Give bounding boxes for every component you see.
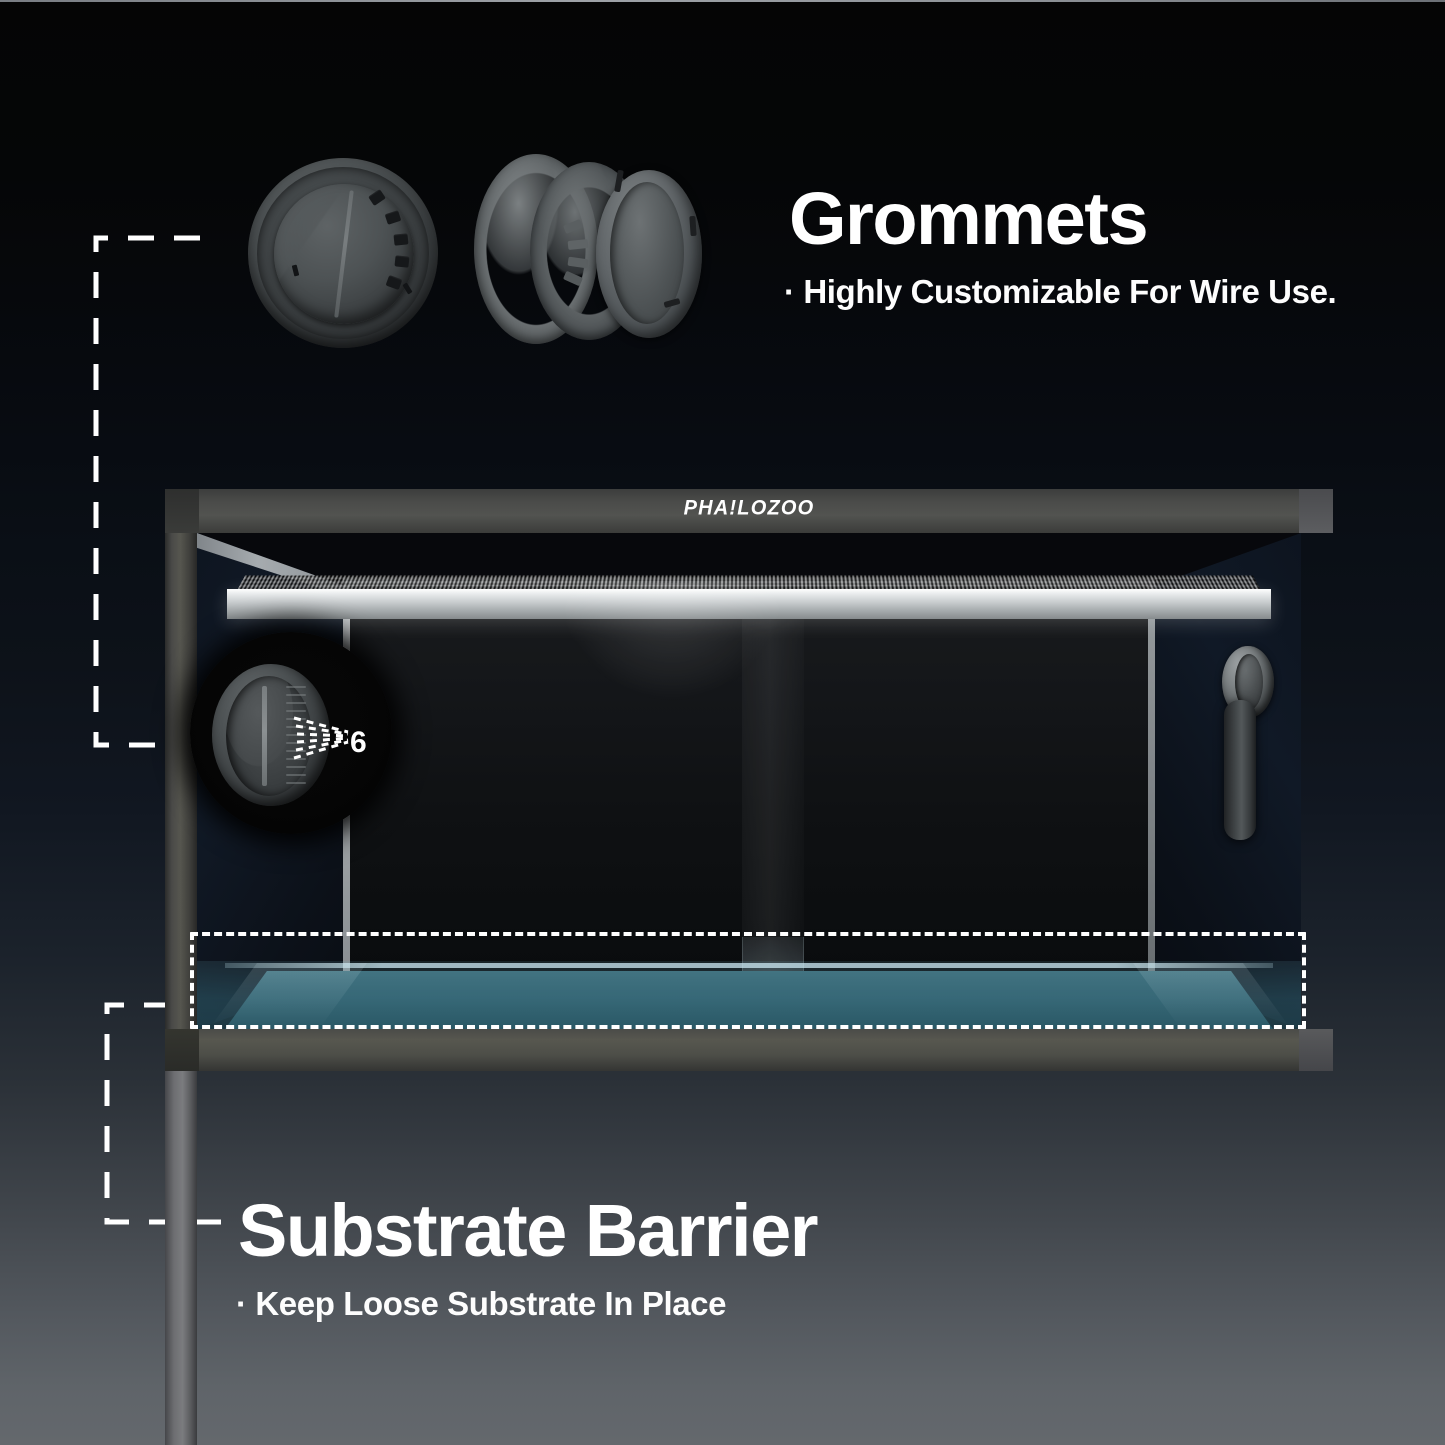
grommet-count-label: 6 [350, 726, 367, 760]
substrate-bullet: · Keep Loose Substrate In Place [236, 1285, 726, 1323]
substrate-barrier-highlight [190, 932, 1306, 1029]
grommet-magnifier: 6 [190, 632, 392, 834]
grommets-bullet: · Highly Customizable For Wire Use. [784, 273, 1336, 311]
tank-bottom-corner-right [1299, 1029, 1333, 1071]
marketing-image-canvas: PHA!LOZOO [0, 0, 1445, 1445]
door-handle-icon[interactable] [1224, 700, 1256, 840]
grommet-rings-icon [468, 148, 710, 363]
grommet-product-renders [230, 148, 710, 363]
grommet-cap-icon [230, 148, 460, 363]
substrate-title: Substrate Barrier [238, 1188, 817, 1273]
tank-frame-post-right [165, 1071, 197, 1445]
brand-logo: PHA!LOZOO [165, 496, 1333, 521]
tank-bottom-rail [165, 1029, 1333, 1071]
tank-bottom-corner-left [165, 1029, 199, 1071]
top-hairline [0, 0, 1445, 2]
grommets-title: Grommets [789, 176, 1147, 261]
